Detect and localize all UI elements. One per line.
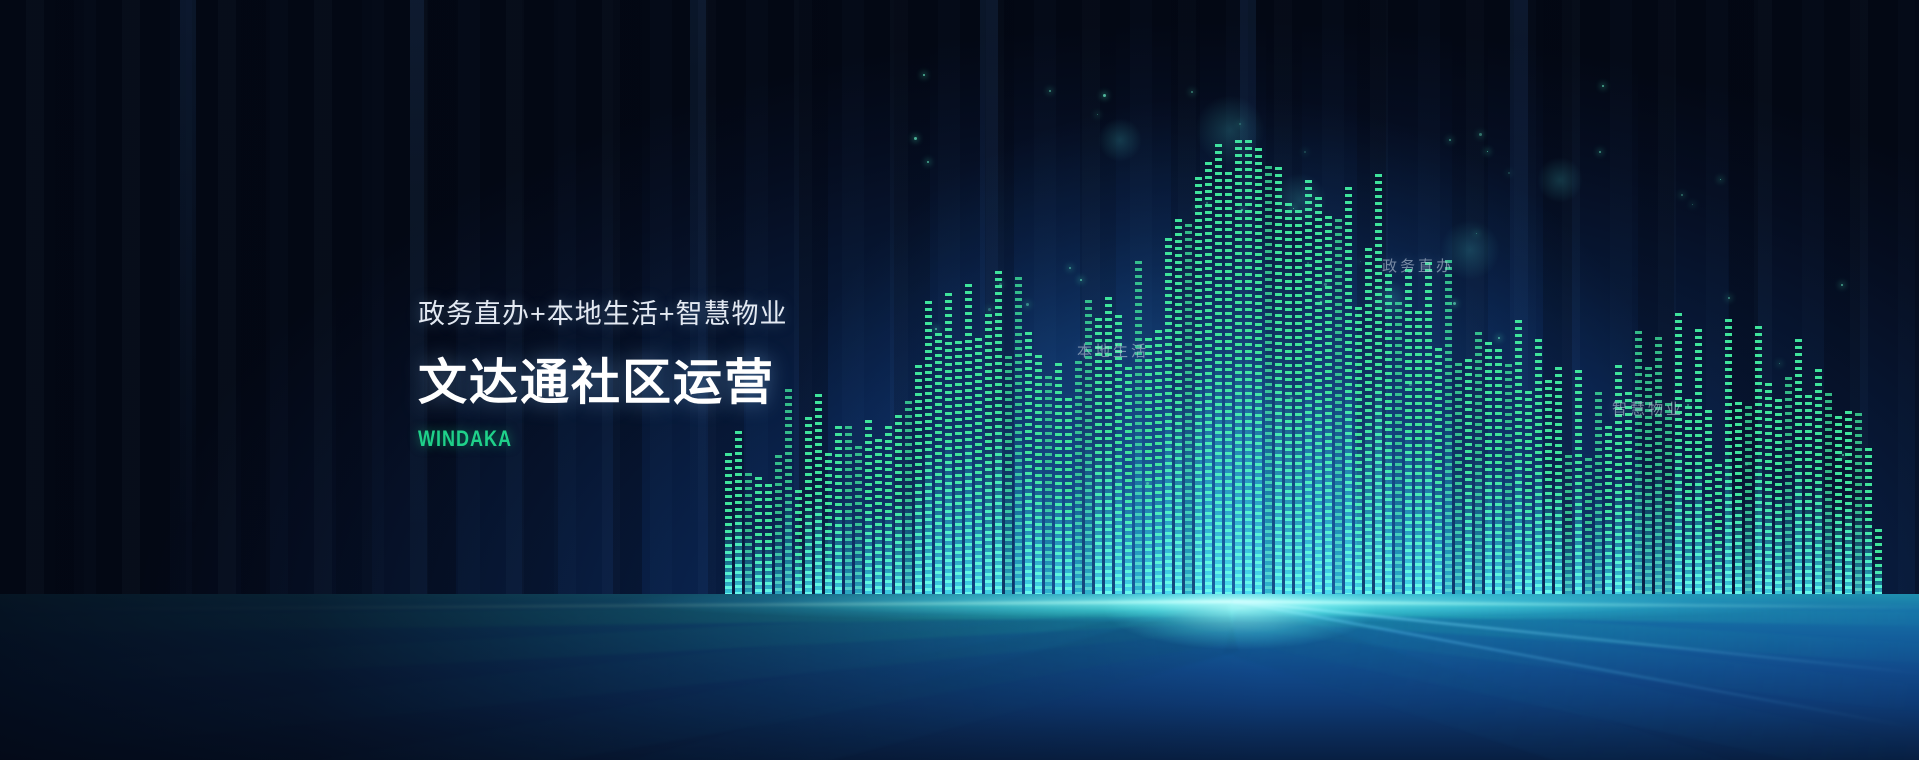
particle-dot: [1599, 151, 1601, 153]
particle-dot: [1449, 139, 1451, 141]
particle-dot: [1842, 454, 1844, 456]
particle-dot: [1241, 209, 1243, 211]
horizon-glow: [0, 594, 1919, 624]
particle-halo: [1195, 95, 1265, 165]
particle-dot: [1720, 179, 1721, 180]
particle-halo: [1537, 157, 1583, 203]
particle-dot: [1360, 261, 1361, 262]
particle-dot: [1687, 404, 1689, 406]
floating-label-3: 智慧物业: [1612, 398, 1684, 419]
particle-dot: [1069, 267, 1071, 269]
perspective-floor: [0, 594, 1919, 760]
particle-dot: [1103, 94, 1106, 97]
particle-dot: [1358, 398, 1359, 399]
particle-dot: [1479, 133, 1482, 136]
particle-dot: [1508, 172, 1510, 174]
vanishing-point-glow: [1050, 594, 1430, 668]
headline-block: 政务直办+本地生活+智慧物业 文达通社区运营 WINDAKA: [418, 292, 978, 452]
particle-dot: [1681, 462, 1682, 463]
particle-dot: [1841, 284, 1843, 286]
particle-dot: [1320, 301, 1322, 303]
particle-halo: [1370, 280, 1410, 320]
floating-label-2: 政务直办: [1382, 255, 1454, 276]
particle-dot: [988, 308, 991, 311]
particle-dot: [1602, 85, 1604, 87]
particle-dot: [914, 137, 917, 140]
particle-halo: [1098, 118, 1142, 162]
particle-dot: [1206, 202, 1208, 204]
particle-dot: [1745, 463, 1748, 466]
particle-dot: [1196, 208, 1197, 209]
particle-dot: [1191, 91, 1193, 93]
particle-halo: [1273, 173, 1327, 227]
particle-dot: [1692, 204, 1693, 205]
particle-dot: [1487, 151, 1488, 152]
particle-dot: [923, 74, 925, 76]
particle-dot: [1026, 303, 1029, 306]
particle-dot: [1779, 363, 1780, 364]
brand-wordmark: WINDAKA: [418, 426, 877, 452]
banner-subtitle: 政务直办+本地生活+智慧物业: [418, 292, 978, 331]
particle-dot: [1728, 297, 1730, 299]
particle-dot: [1304, 151, 1306, 153]
particle-dot: [1409, 383, 1412, 386]
particle-dot: [1146, 482, 1149, 485]
particle-dot: [1080, 279, 1082, 281]
particle-dot: [1307, 262, 1309, 264]
hero-banner: 本地生活政务直办智慧物业 政务直办+本地生活+智慧物业 文达通社区运营 WIND…: [0, 0, 1919, 760]
particle-dot: [1049, 90, 1051, 92]
particle-dot: [999, 283, 1002, 286]
particle-dot: [1290, 397, 1293, 400]
particle-dot: [1097, 114, 1098, 115]
floating-label-1: 本地生活: [1077, 340, 1149, 361]
particle-dot: [1681, 194, 1683, 196]
particle-dot: [1498, 337, 1500, 339]
particle-dot: [1453, 302, 1456, 305]
particle-dot: [1324, 283, 1327, 286]
particle-dot: [927, 161, 929, 163]
banner-title: 文达通社区运营: [418, 343, 978, 414]
